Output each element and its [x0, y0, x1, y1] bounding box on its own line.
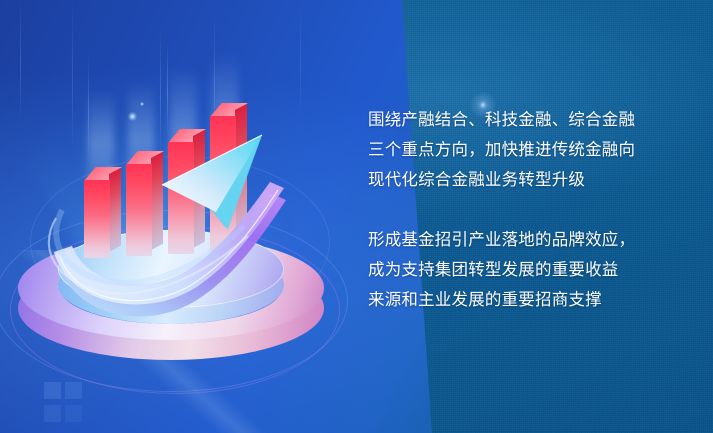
banner-root: 围绕产融结合、科技金融、综合金融 三个重点方向，加快推进传统金融向 现代化综合金… — [0, 0, 713, 433]
swirl-band — [56, 210, 244, 283]
paragraph-2-line-1: 形成基金招引产业落地的品牌效应， — [368, 225, 688, 255]
paragraph-2-line-2: 成为支持集团转型发展的重要收益 — [368, 255, 688, 285]
paragraph-2: 形成基金招引产业落地的品牌效应， 成为支持集团转型发展的重要收益 来源和主业发展… — [368, 225, 688, 315]
paragraph-1-line-2: 三个重点方向，加快推进传统金融向 — [368, 135, 688, 165]
paragraph-1: 围绕产融结合、科技金融、综合金融 三个重点方向，加快推进传统金融向 现代化综合金… — [368, 105, 688, 195]
paragraph-1-line-3: 现代化综合金融业务转型升级 — [368, 165, 688, 195]
text-panel: 围绕产融结合、科技金融、综合金融 三个重点方向，加快推进传统金融向 现代化综合金… — [368, 105, 688, 315]
paragraph-1-line-1: 围绕产融结合、科技金融、综合金融 — [368, 105, 688, 135]
paragraph-2-line-3: 来源和主业发展的重要招商支撑 — [368, 285, 688, 315]
arrow-swirl-loop — [0, 60, 360, 390]
growth-chart-illustration — [0, 60, 360, 390]
